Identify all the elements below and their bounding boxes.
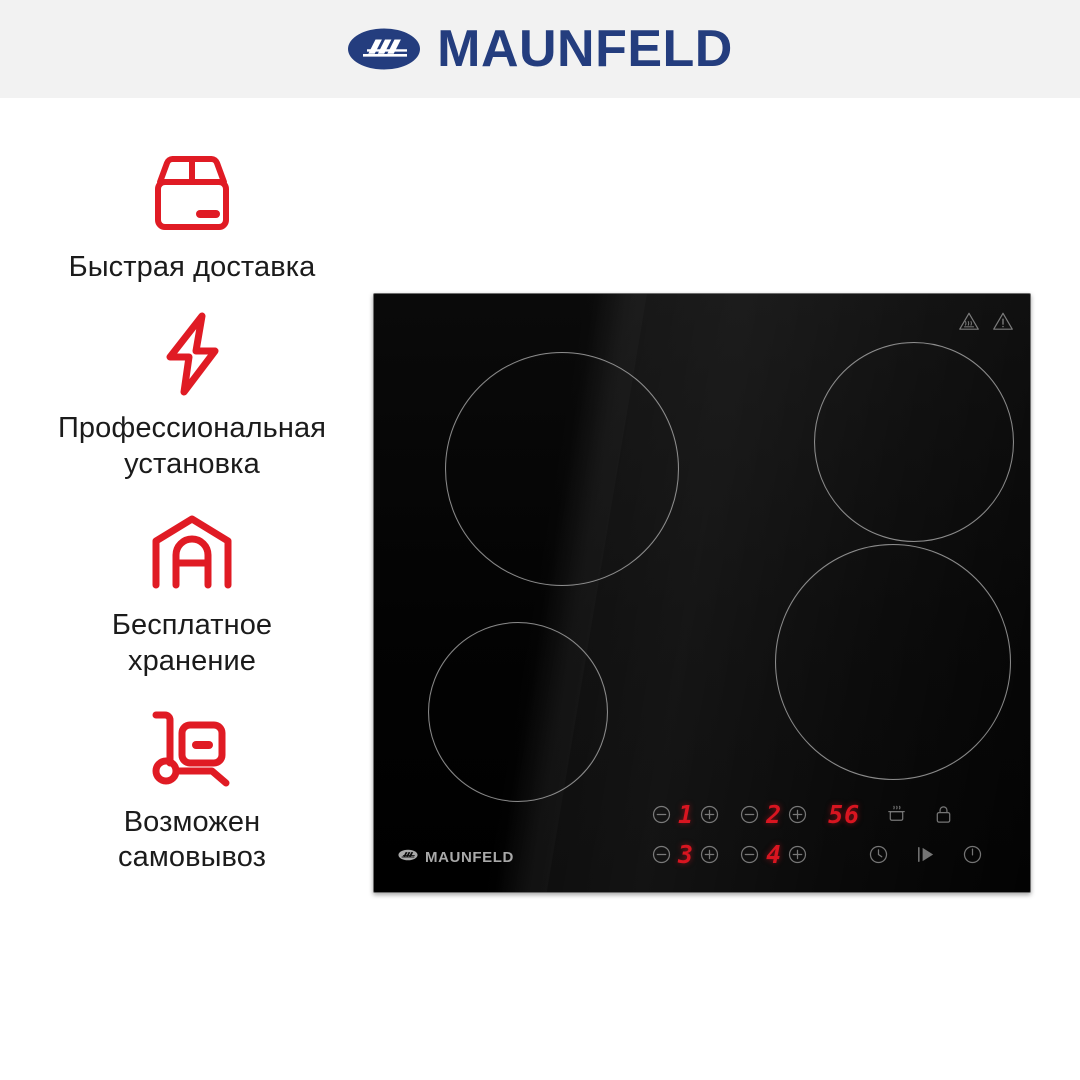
brand-wordmark: MAUNFELD (437, 23, 733, 75)
zone-1-level-display: 1 (678, 802, 693, 827)
plus-circle-icon[interactable] (788, 805, 807, 824)
zone-3-controls: 3 (652, 842, 719, 867)
package-box-icon (14, 150, 370, 236)
watermark-text: hausdorf.ru (1075, 927, 1078, 1080)
control-panel: 1 2 (652, 802, 983, 867)
burner-rear-left[interactable] (428, 622, 608, 802)
minus-circle-icon[interactable] (740, 805, 759, 824)
product-image: MAUNFELD 1 (373, 293, 1031, 893)
hot-surface-warning-icon (958, 311, 980, 331)
plus-circle-icon[interactable] (700, 805, 719, 824)
timer-clock-icon[interactable] (868, 844, 889, 865)
boost-pot-icon[interactable] (886, 804, 907, 825)
minus-circle-icon[interactable] (652, 805, 671, 824)
warning-icons-group (958, 311, 1014, 331)
zone-2-controls: 2 (740, 802, 807, 827)
watermark-text: hausdorf.ru (1075, 597, 1078, 759)
zone-2-level-display: 2 (766, 802, 781, 827)
features-list: Быстрая доставка Профессиональная устано… (14, 150, 370, 876)
child-lock-icon[interactable] (933, 804, 954, 825)
minus-circle-icon[interactable] (740, 845, 759, 864)
burner-rear-right[interactable] (814, 342, 1014, 542)
zone-1-controls: 1 (652, 802, 719, 827)
zone-4-controls: 4 (740, 842, 807, 867)
watermark-text: hausdorf.ru (1075, 267, 1078, 429)
timer-display: 56 (828, 802, 860, 827)
control-row-bottom: 3 4 (652, 842, 983, 867)
feature-item-delivery: Быстрая доставка (14, 150, 370, 285)
hand-truck-icon (14, 705, 370, 791)
feature-item-storage: Бесплатное хранение (14, 508, 370, 679)
feature-label-delivery: Быстрая доставка (14, 250, 370, 285)
control-row-top: 1 2 (652, 802, 983, 827)
lightning-bolt-icon (14, 311, 370, 397)
feature-label-installation: Профессиональная установка (14, 411, 370, 482)
feature-item-pickup: Возможен самовывоз (14, 705, 370, 876)
page-root: MAUNFELD Быстрая доставка Профессиона (0, 0, 1080, 1080)
hob-brand-label: MAUNFELD (425, 850, 514, 865)
hob-brand-lockup: MAUNFELD (398, 848, 514, 866)
maunfeld-small-emblem-icon (398, 848, 418, 866)
feature-item-installation: Профессиональная установка (14, 311, 370, 482)
maunfeld-oval-emblem-icon (347, 27, 421, 71)
feature-label-pickup: Возможен самовывоз (14, 805, 370, 876)
warehouse-icon (14, 508, 370, 594)
feature-label-storage: Бесплатное хранение (14, 608, 370, 679)
plus-circle-icon[interactable] (788, 845, 807, 864)
cooktop-glass-surface: MAUNFELD 1 (373, 293, 1031, 893)
minus-circle-icon[interactable] (652, 845, 671, 864)
zone-4-level-display: 4 (766, 842, 781, 867)
burner-front-left[interactable] (445, 352, 679, 586)
header-band: MAUNFELD (0, 0, 1080, 98)
pause-play-icon[interactable] (915, 844, 936, 865)
burner-front-right[interactable] (775, 544, 1011, 780)
power-icon[interactable] (962, 844, 983, 865)
plus-circle-icon[interactable] (700, 845, 719, 864)
zone-3-level-display: 3 (678, 842, 693, 867)
brand-lockup: MAUNFELD (347, 23, 733, 75)
general-warning-icon (992, 311, 1014, 331)
